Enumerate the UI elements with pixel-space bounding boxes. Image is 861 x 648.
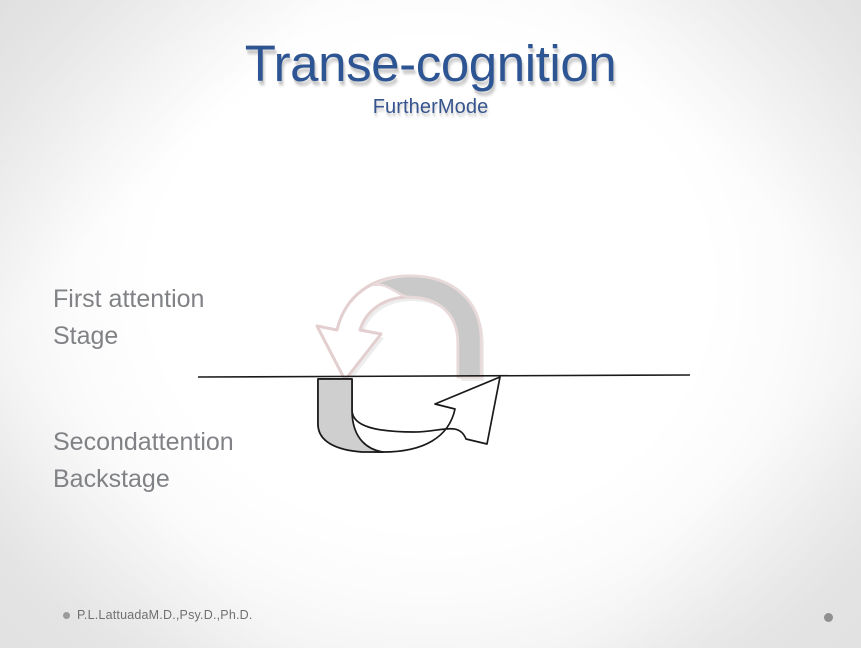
- page-subtitle: FurtherMode: [0, 96, 861, 119]
- top-curved-arrow-icon: [317, 276, 484, 384]
- corner-dot-icon: [824, 613, 833, 622]
- bottom-curved-arrow-icon: [318, 377, 500, 453]
- presentation-slide: Transe-cognition FurtherMode First atten…: [0, 0, 861, 648]
- horizontal-divider-line: [198, 375, 690, 377]
- label-second-attention-backstage: Secondattention Backstage: [53, 424, 234, 498]
- bullet-icon: [63, 612, 70, 619]
- label-first-attention-stage: First attention Stage: [53, 281, 204, 355]
- title-block: Transe-cognition FurtherMode: [0, 38, 861, 119]
- footer: P.L.LattuadaM.D.,Psy.D.,Ph.D.: [63, 608, 253, 622]
- footer-author-text: P.L.LattuadaM.D.,Psy.D.,Ph.D.: [77, 608, 253, 622]
- page-title: Transe-cognition: [0, 38, 861, 90]
